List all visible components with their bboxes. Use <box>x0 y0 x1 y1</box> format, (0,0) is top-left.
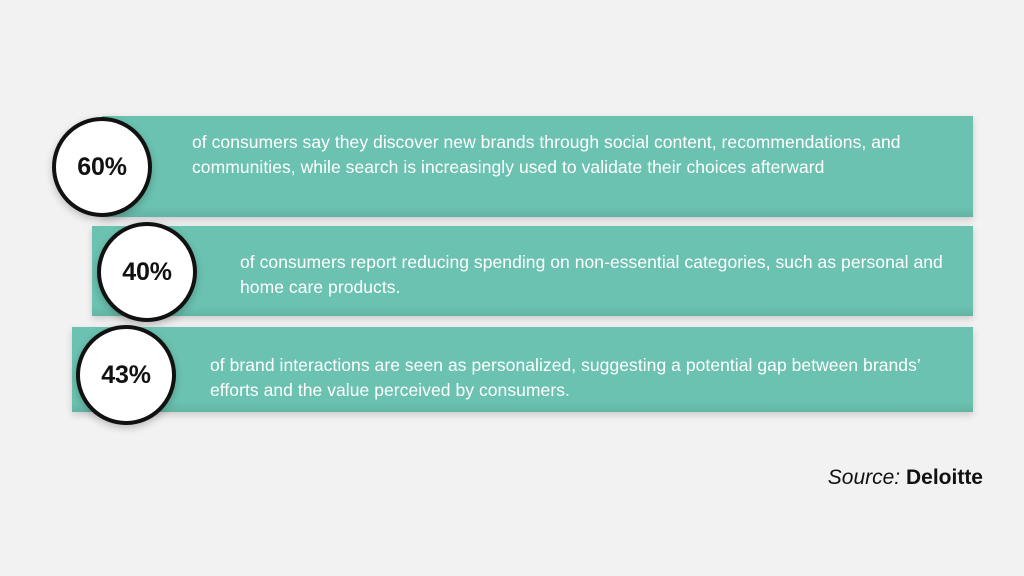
stat-percent-label: 60% <box>77 153 126 182</box>
bar-shadow-strip <box>72 402 973 412</box>
stat-description: of consumers say they discover new brand… <box>192 130 952 180</box>
stat-percent-circle: 43% <box>76 325 176 425</box>
source-name: Deloitte <box>906 466 983 489</box>
stat-percent-circle: 40% <box>97 222 197 322</box>
bar-shadow-strip <box>102 207 973 217</box>
stat-description: of consumers report reducing spending on… <box>240 250 950 300</box>
stat-percent-label: 43% <box>101 361 150 390</box>
stat-percent-circle: 60% <box>52 117 152 217</box>
source-label: Source: <box>828 466 900 489</box>
source-attribution: Source: Deloitte <box>828 466 983 490</box>
stat-description: of brand interactions are seen as person… <box>210 353 950 403</box>
infographic-canvas: of consumers say they discover new brand… <box>0 0 1024 576</box>
stat-percent-label: 40% <box>122 258 171 287</box>
bar-shadow-strip <box>92 306 973 316</box>
